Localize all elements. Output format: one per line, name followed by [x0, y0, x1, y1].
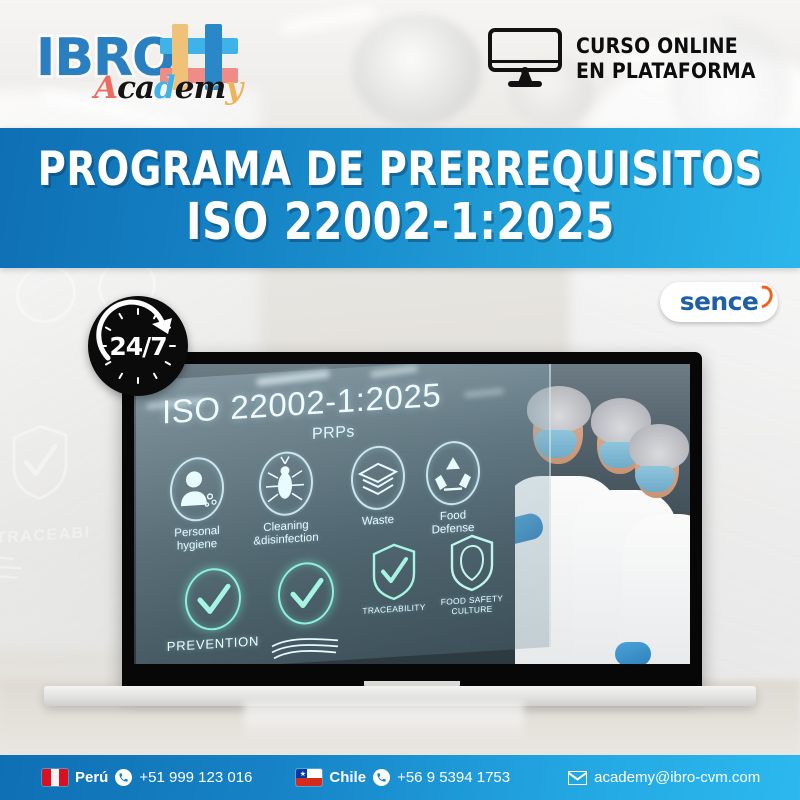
- curso-online-line: CURSO ONLINE: [576, 34, 756, 59]
- logo-letter-a: a: [135, 70, 154, 106]
- check-circle-icon: [278, 561, 334, 627]
- screen-overlay-content: ISO 22002-1:2025 PRPs: [134, 364, 554, 664]
- bottom-item: FOOD SAFETY CULTURE: [434, 532, 510, 618]
- prp-label: Cleaning &disinfection: [242, 518, 330, 549]
- promo-poster: leaning sinfection TRACEABI IBRO I: [0, 0, 800, 800]
- contact-email[interactable]: academy@ibro-cvm.com: [568, 769, 760, 786]
- envelope-icon: [568, 771, 587, 785]
- contact-peru[interactable]: Perú +51 999 123 016: [42, 769, 252, 786]
- sence-wordmark: sence: [680, 287, 758, 316]
- logo-letter-c: c: [117, 70, 135, 106]
- bottom-label-traceability: TRACEABILITY: [356, 601, 432, 616]
- shield-check-icon: [449, 532, 495, 593]
- prp-label: Waste: [346, 513, 410, 530]
- chile-flag-icon: ★: [296, 769, 322, 786]
- person-hairnet: [629, 424, 689, 470]
- contact-country-chile: Chile: [329, 769, 366, 786]
- bottom-item: [266, 560, 346, 664]
- prp-item: Personal hygiene: [160, 455, 234, 554]
- banner-title-line2: ISO 22002-1:2025: [186, 196, 615, 250]
- waste-layers-icon: [351, 444, 405, 511]
- phone-icon: [373, 769, 390, 786]
- ghost-wave-icon: [0, 545, 38, 596]
- logo-letter-e: e: [175, 70, 194, 106]
- title-banner: PROGRAMA DE PRERREQUISITOS ISO 22002-1:2…: [0, 128, 800, 268]
- prp-label: Personal hygiene: [160, 524, 234, 554]
- check-circle-icon: [185, 566, 241, 632]
- pest-control-icon: [259, 450, 313, 517]
- contact-phone-peru: +51 999 123 016: [139, 769, 252, 786]
- sence-text: sence: [680, 287, 758, 316]
- laptop-lid: ISO 22002-1:2025 PRPs: [122, 352, 702, 692]
- shield-check-icon: [371, 541, 417, 602]
- background-head-blur: [352, 14, 482, 126]
- laptop-screen: ISO 22002-1:2025 PRPs: [134, 364, 690, 664]
- wave-lines-icon: [270, 632, 342, 663]
- peru-flag-icon: [42, 769, 68, 786]
- person-glove: [615, 642, 651, 664]
- logo-letter-m: m: [193, 70, 225, 106]
- prp-item: Food Defense: [418, 439, 488, 538]
- screen-subtitle: PRPs: [312, 423, 355, 444]
- availability-label: 24/7: [88, 296, 188, 396]
- sence-logo[interactable]: sence: [660, 282, 778, 322]
- banner-title-line1: PROGRAMA DE PRERREQUISITOS: [37, 146, 762, 195]
- contact-footer: Perú +51 999 123 016 ★ Chile +56 9 5394 …: [0, 755, 800, 800]
- contact-email-address: academy@ibro-cvm.com: [594, 769, 760, 786]
- bottom-label-culture: FOOD SAFETY CULTURE: [434, 593, 510, 618]
- bottom-item: TRACEABILITY: [356, 540, 432, 616]
- logo-letter-y: y: [225, 70, 242, 106]
- contact-phone-chile: +56 9 5394 1753: [397, 769, 510, 786]
- prp-label-line1: Waste: [346, 513, 410, 530]
- contact-chile[interactable]: ★ Chile +56 9 5394 1753: [296, 769, 510, 786]
- desktop-monitor-icon: [488, 28, 562, 90]
- bottom-item: PREVENTION: [158, 565, 268, 655]
- phone-icon: [115, 769, 132, 786]
- en-plataforma-line: EN PLATAFORMA: [576, 59, 756, 84]
- logo-letter-A: A: [94, 70, 117, 106]
- prp-item: Cleaning &disinfection: [242, 449, 330, 549]
- course-modality-text: CURSO ONLINE EN PLATAFORMA: [576, 34, 756, 84]
- availability-badge: 24/7: [88, 296, 188, 396]
- contact-country-peru: Perú: [75, 769, 108, 786]
- brand-logo[interactable]: IBRO IBRO Academy: [36, 22, 256, 110]
- person-hygiene-icon: [170, 456, 224, 523]
- person-mask: [635, 466, 675, 492]
- bottom-label-prevention: PREVENTION: [158, 633, 268, 655]
- recycle-icon: [426, 439, 480, 506]
- prp-item: Waste: [346, 444, 410, 530]
- laptop-reflection: [244, 702, 524, 742]
- course-modality-block: CURSO ONLINE EN PLATAFORMA: [488, 28, 776, 90]
- logo-academy-text: Academy: [94, 70, 242, 106]
- logo-letter-d: d: [154, 70, 175, 106]
- laptop-mockup: ISO 22002-1:2025 PRPs: [44, 352, 756, 742]
- screen-title: ISO 22002-1:2025: [162, 376, 441, 432]
